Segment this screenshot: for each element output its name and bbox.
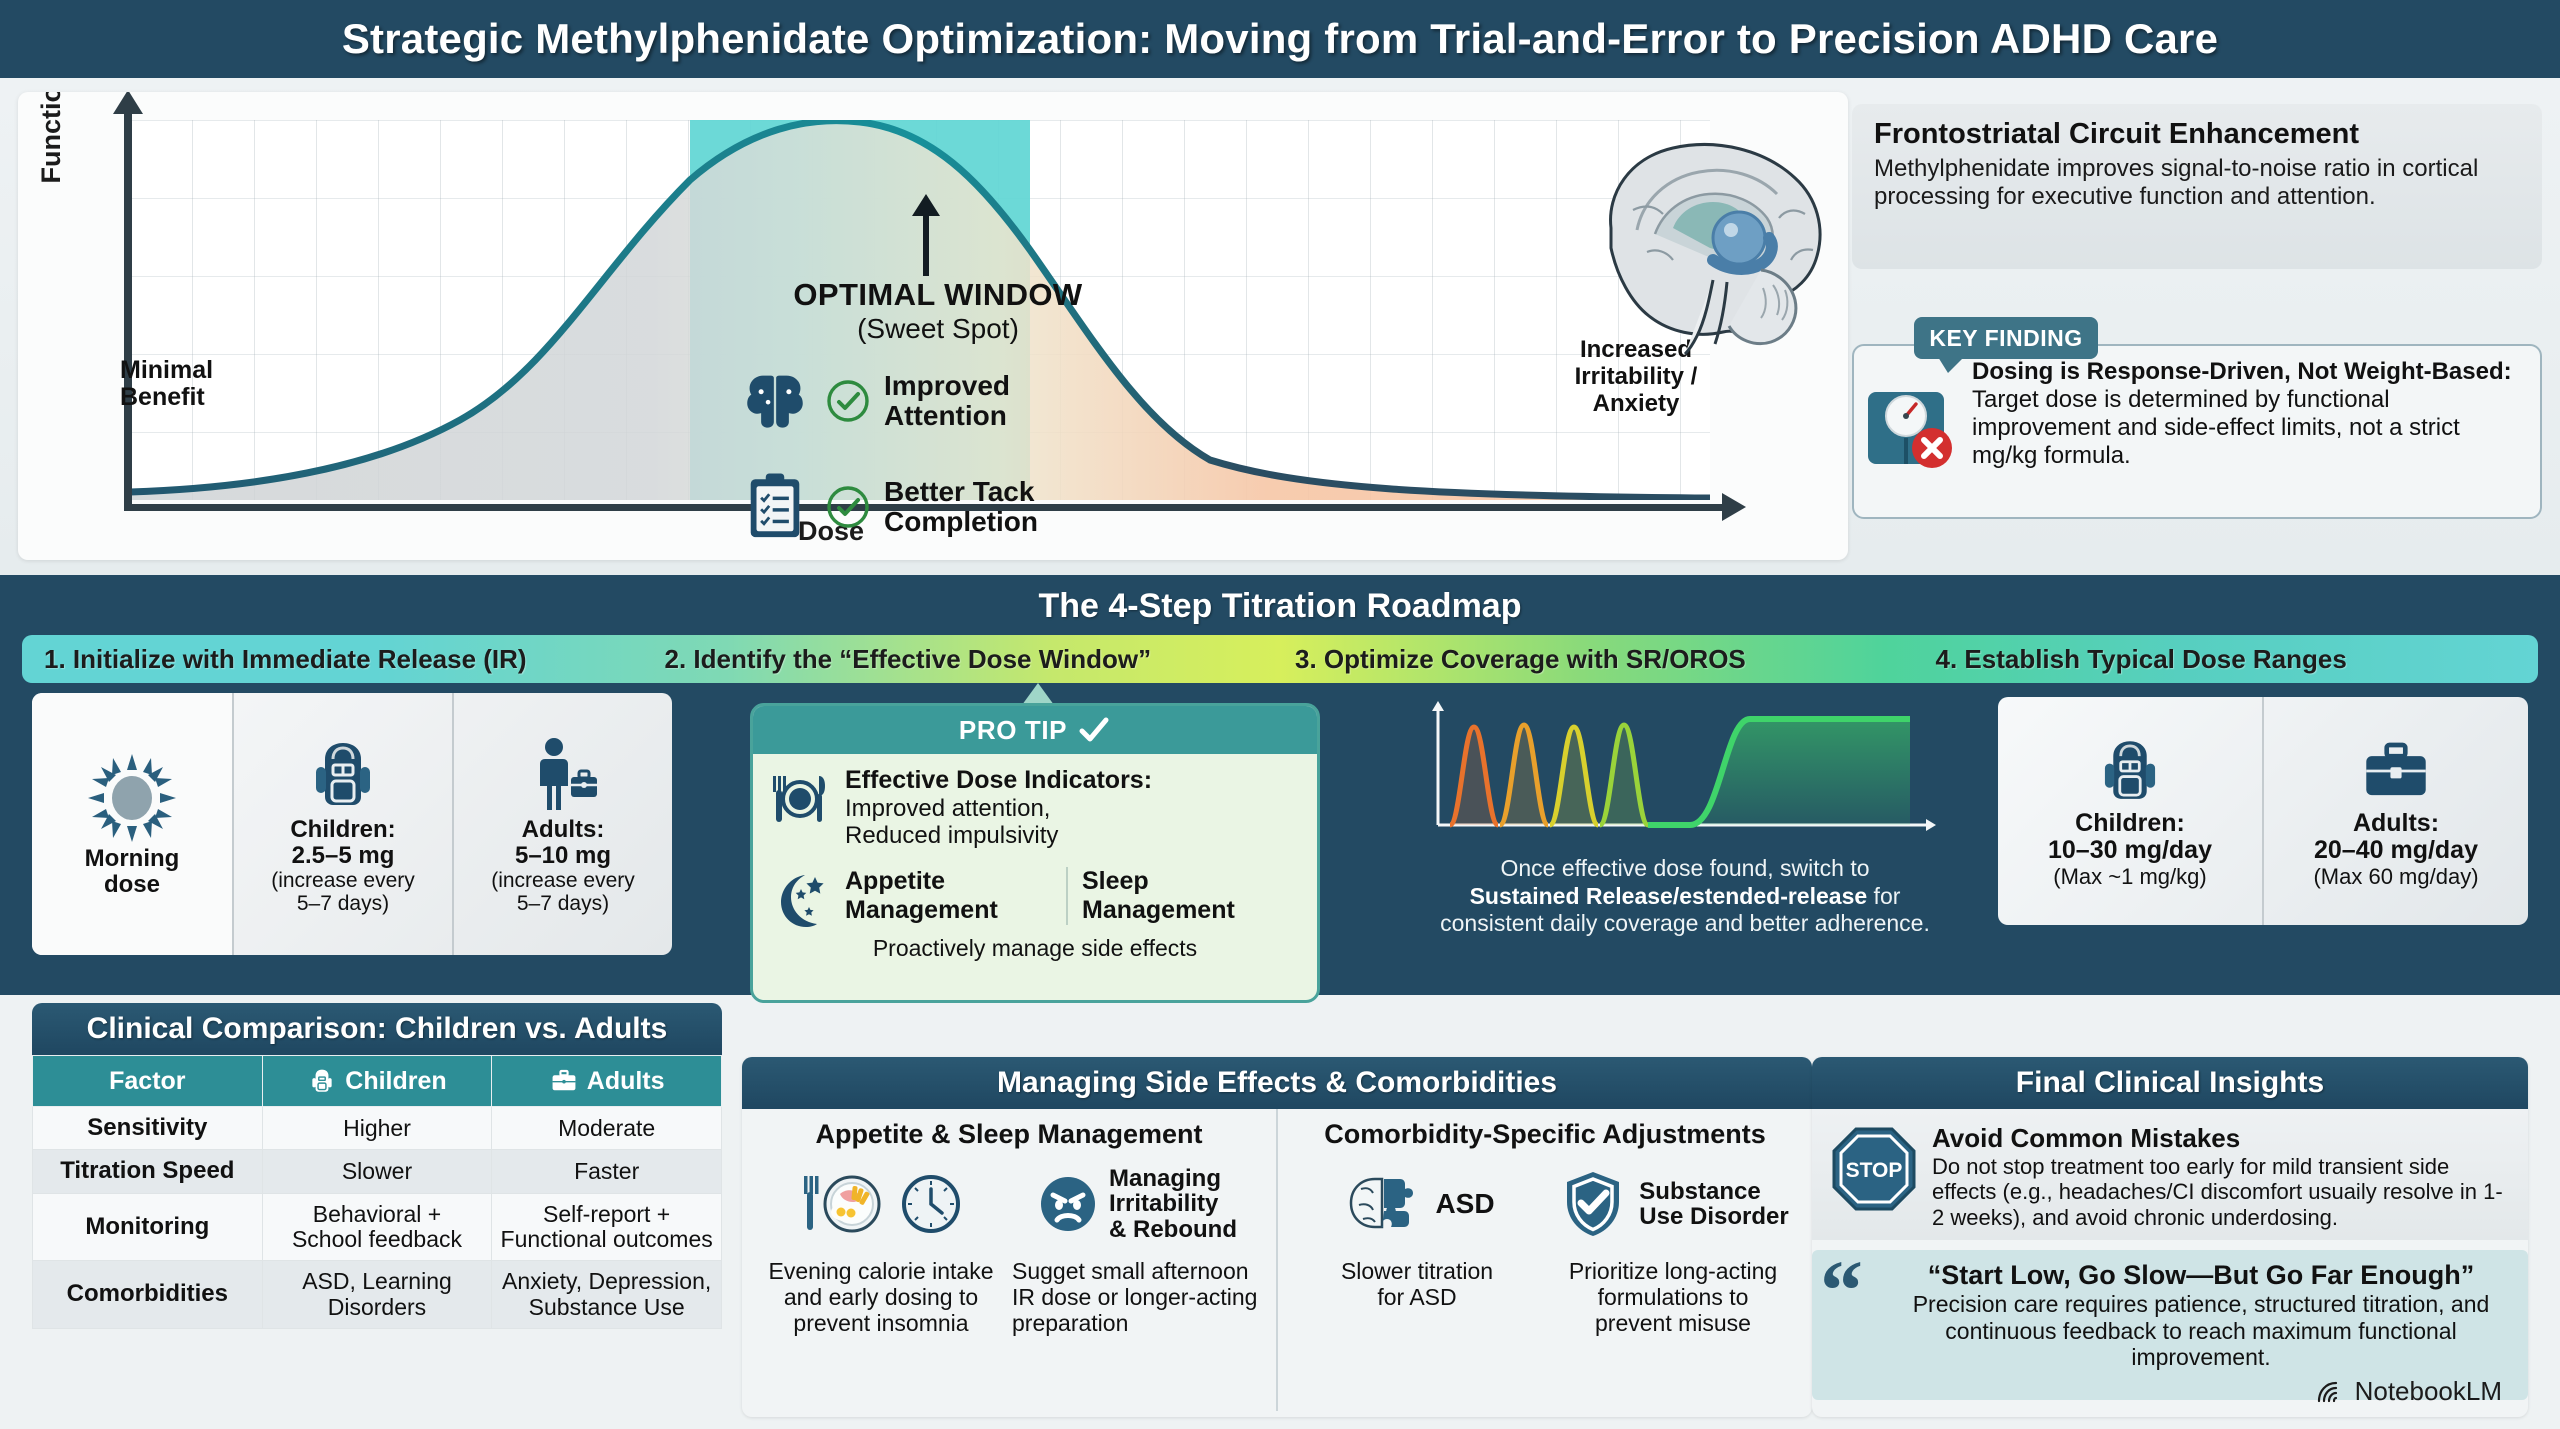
briefcase-icon [2357,732,2435,810]
brain-anatomy-illustration [1563,110,1848,360]
protip-indicators-title: Effective Dose Indicators: [845,766,1152,795]
step1-children-dose: Children: 2.5–5 mg (increase every 5–7 d… [232,693,452,955]
asd-title: ASD [1435,1189,1494,1218]
protip-management-row: Appetite Management Sleep Management [767,867,1303,933]
notebooklm-label: NotebookLM [2355,1376,2502,1407]
frontostriatal-body: Methylphenidate improves signal-to-noise… [1874,155,2522,211]
sun-icon [84,750,180,846]
asd-item: ASD Slower titration for ASD [1292,1156,1542,1336]
roadmap-step-1[interactable]: 1. Initialize with Immediate Release (IR… [22,635,647,683]
step3-caption: Once effective dose found, switch to Sus… [1390,855,1980,938]
svg-text:STOP: STOP [1846,1159,1903,1182]
protip-indicators-row: Effective Dose Indicators: Improved atte… [767,766,1303,849]
check-circle-icon [826,379,870,423]
evening-calorie-item: Evening calorie intake and early dosing … [756,1156,1006,1336]
comorbidity-heading: Comorbidity-Specific Adjustments [1324,1119,1766,1150]
step1-morning-label: Morning dose [85,846,180,899]
irritability-caption: Sugget small afternoon IR dose or longer… [1012,1258,1262,1336]
cell-children: Higher [262,1107,492,1150]
cell-factor: Sensitivity [33,1107,263,1150]
roadmap-step-bar: 1. Initialize with Immediate Release (IR… [22,635,2538,683]
irritability-title: Managing Irritability & Rebound [1109,1166,1237,1242]
evening-calorie-caption: Evening calorie intake and early dosing … [756,1258,1006,1336]
roadmap-title: The 4-Step Titration Roadmap [0,587,2560,626]
infographic-page: Strategic Methylphenidate Optimization: … [0,0,2560,1429]
shield-check-icon [1557,1168,1629,1240]
col-children: Children [262,1056,492,1107]
check-icon [1077,713,1111,747]
table-row: Monitoring Behavioral + School feedback … [33,1193,722,1261]
backpack-icon [2091,732,2169,810]
minimal-benefit-label: Minimal Benefit [120,357,213,411]
moon-stars-icon [767,867,833,933]
col-adults: Adults [492,1056,722,1107]
step4-children-range: Children: 10–30 mg/day (Max ~1 mg/kg) [1998,697,2262,925]
notebooklm-logo-icon [2315,1375,2347,1407]
optimal-window-arrow-icon [923,214,929,276]
weight-scale-icon [1860,374,1964,478]
brain-puzzle-icon [1339,1161,1425,1247]
protip-sleep: Sleep Management [1066,867,1303,925]
table-row: Titration Speed Slower Faster [33,1150,722,1193]
comparison-table: Factor Children [32,1055,722,1329]
frontostriatal-card: Frontostriatal Circuit Enhancement Methy… [1852,104,2542,269]
backpack-icon [301,733,385,817]
clipboard-checklist-icon [738,470,812,544]
step4-children-note: (Max ~1 mg/kg) [2053,864,2206,890]
notebooklm-watermark: NotebookLM [2315,1375,2502,1407]
protip-footer: Proactively manage side effects [767,935,1303,962]
substance-use-caption: Prioritize long-acting formulations to p… [1569,1258,1777,1336]
benefit-label: Better Tack Completion [884,477,1038,537]
benefit-improved-attention: Improved Attention [738,364,1010,438]
adult-person-briefcase-icon [521,733,605,817]
final-insights-card: Final Clinical Insights STOP Avoid Commo… [1812,1057,2528,1417]
comparison-title: Clinical Comparison: Children vs. Adults [32,1003,722,1055]
optimal-window-heading: OPTIMAL WINDOW (Sweet Spot) [738,277,1138,345]
titration-roadmap-section: The 4-Step Titration Roadmap 1. Initiali… [0,575,2560,995]
protip-indicators-line1: Improved attention, [845,795,1152,822]
step1-children-note: (increase every 5–7 days) [271,869,415,915]
step4-card: Children: 10–30 mg/day (Max ~1 mg/kg) Ad… [1998,697,2528,925]
dose-response-section: Functional Response [0,78,2560,575]
protip-card: PRO TIP Effective Dose Indicators: Impro… [750,703,1320,1003]
step1-card: Morning dose Children: 2.5–5 mg [32,693,672,955]
release-profile-chart [1420,697,1950,847]
appetite-sleep-column: Appetite & Sleep Management [742,1109,1276,1411]
mechanism-info-column: Frontostriatal Circuit Enhancement Methy… [1852,92,2542,560]
final-insights-title: Final Clinical Insights [1812,1057,2528,1109]
avoid-mistakes-heading: Avoid Common Mistakes [1932,1123,2512,1154]
cell-adults: Faster [492,1150,722,1193]
step4-children-label: Children: 10–30 mg/day [2048,810,2212,864]
comorbidity-column: Comorbidity-Specific Adjustments AS [1276,1109,1812,1411]
brain-icon [738,364,812,438]
chart-y-axis-label: Functional Response [36,92,67,192]
col-factor: Factor [33,1056,263,1107]
appetite-sleep-heading: Appetite & Sleep Management [815,1119,1202,1150]
benefit-better-task-completion: Better Tack Completion [738,470,1038,544]
protip-header: PRO TIP [753,706,1317,754]
final-quote-body: Precision care requires patience, struct… [1890,1291,2512,1371]
step4-adults-label: Adults: 20–40 mg/day [2314,810,2478,864]
step4-adults-range: Adults: 20–40 mg/day (Max 60 mg/day) [2262,697,2528,925]
protip-pointer [1022,683,1054,705]
cell-adults: Anxiety, Depression, Substance Use [492,1261,722,1329]
roadmap-step-4[interactable]: 4. Establish Typical Dose Ranges [1898,635,2539,683]
backpack-icon [307,1066,337,1096]
protip-appetite: Appetite Management [845,867,1066,925]
angry-face-icon [1037,1173,1099,1235]
quote-mark-icon: “ [1820,1256,1863,1325]
plate-fork-knife-icon [767,766,833,832]
key-finding-text: Dosing is Response-Driven, Not Weight-Ba… [1972,358,2522,470]
benefit-label: Improved Attention [884,371,1010,431]
table-row: Sensitivity Higher Moderate [33,1107,722,1150]
cell-children: ASD, Learning Disorders [262,1261,492,1329]
final-quote-heading: “Start Low, Go Slow—But Go Far Enough” [1890,1260,2512,1291]
cell-factor: Comorbidities [33,1261,263,1329]
step1-adults-note: (increase every 5–7 days) [491,869,635,915]
page-title: Strategic Methylphenidate Optimization: … [342,15,2218,63]
check-circle-icon [826,485,870,529]
avoid-mistakes-body: Do not stop treatment too early for mild… [1932,1154,2512,1230]
cell-children: Slower [262,1150,492,1193]
plate-food-icon [800,1158,892,1250]
irritability-rebound-item: Managing Irritability & Rebound Sugget s… [1012,1156,1262,1336]
dose-response-chart-card: Functional Response [18,92,1848,560]
table-header-row: Factor Children [33,1056,722,1107]
protip-indicators-line2: Reduced impulsivity [845,822,1152,849]
briefcase-icon [549,1066,579,1096]
key-finding-badge: KEY FINDING [1914,317,2098,359]
cell-factor: Monitoring [33,1193,263,1261]
cell-adults: Self-report + Functional outcomes [492,1193,722,1261]
step1-children-label: Children: 2.5–5 mg [290,817,395,870]
cell-factor: Titration Speed [33,1150,263,1193]
clinical-comparison-card: Clinical Comparison: Children vs. Adults… [32,1003,722,1417]
substance-use-item: Substance Use Disorder Prioritize long-a… [1548,1156,1798,1336]
table-row: Comorbidities ASD, Learning Disorders An… [33,1261,722,1329]
clock-icon [900,1173,962,1235]
side-effects-title: Managing Side Effects & Comorbidities [742,1057,1812,1109]
roadmap-step-2[interactable]: 2. Identify the “Effective Dose Window” [647,635,1268,683]
step4-adults-note: (Max 60 mg/day) [2313,864,2478,890]
stop-sign-icon: STOP [1828,1123,1920,1215]
substance-use-title: Substance Use Disorder [1639,1179,1788,1229]
step1-adults-dose: Adults: 5–10 mg (increase every 5–7 days… [452,693,672,955]
chart-y-axis [124,110,132,510]
side-effects-card: Managing Side Effects & Comorbidities Ap… [742,1057,1812,1417]
step1-morning-dose: Morning dose [32,693,232,955]
step3-sr-oros: Once effective dose found, switch to Sus… [1390,697,1980,967]
cell-children: Behavioral + School feedback [262,1193,492,1261]
avoid-mistakes-block: STOP Avoid Common Mistakes Do not stop t… [1812,1109,2528,1240]
frontostriatal-heading: Frontostriatal Circuit Enhancement [1874,118,2522,151]
roadmap-step-3[interactable]: 3. Optimize Coverage with SR/OROS [1267,635,1898,683]
cell-adults: Moderate [492,1107,722,1150]
asd-caption: Slower titration for ASD [1341,1258,1493,1310]
bottom-section: Clinical Comparison: Children vs. Adults… [0,995,2560,1429]
title-bar: Strategic Methylphenidate Optimization: … [0,0,2560,78]
step1-adults-label: Adults: 5–10 mg [515,817,611,870]
protip-label: PRO TIP [959,715,1067,746]
